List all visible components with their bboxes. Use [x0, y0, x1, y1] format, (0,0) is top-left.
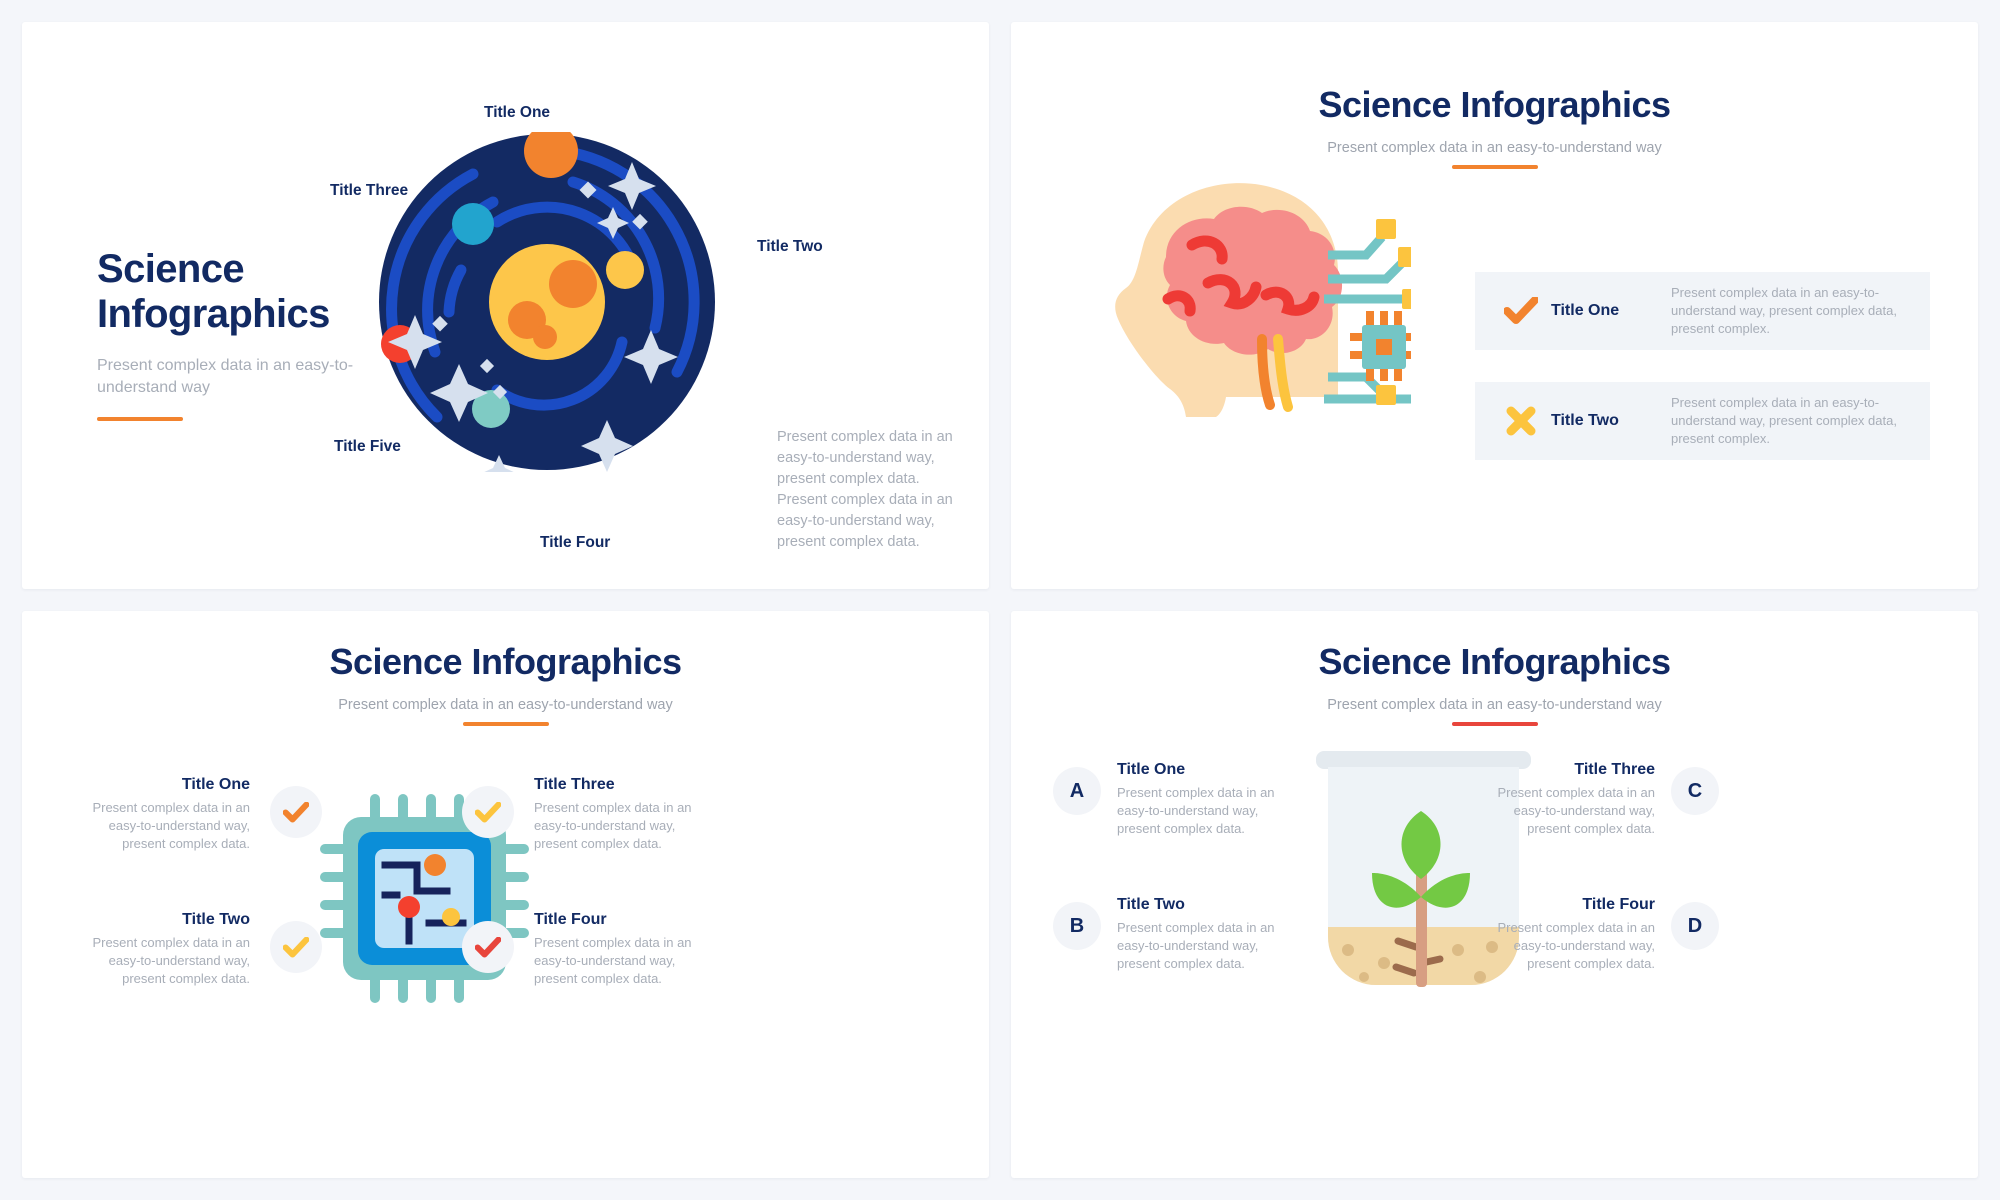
slide3-item-one[interactable]: Title One Present complex data in an eas… [62, 776, 322, 853]
slide-brain-circuit[interactable]: Science Infographics Present complex dat… [1011, 22, 1978, 589]
check-icon [270, 786, 322, 838]
slide2-row-two[interactable]: Title Two Present complex data in an eas… [1475, 382, 1930, 460]
slide4-item-a-body: Present complex data in an easy-to-under… [1117, 784, 1303, 838]
slide1-paragraph: Present complex data in an easy-to-under… [777, 427, 962, 553]
slide4-item-a-text: Title One Present complex data in an eas… [1117, 761, 1303, 838]
slide3-item-four-text: Title Four Present complex data in an ea… [534, 911, 722, 988]
slide4-item-b[interactable]: B Title Two Present complex data in an e… [1053, 896, 1303, 973]
badge-letter: B [1053, 902, 1101, 950]
slide3-item-one-text: Title One Present complex data in an eas… [62, 776, 250, 853]
slide3-subtitle: Present complex data in an easy-to-under… [22, 697, 989, 713]
slide2-row-one-title: Title One [1551, 302, 1671, 320]
slide3-item-two[interactable]: Title Two Present complex data in an eas… [62, 911, 322, 988]
slide3-item-two-body: Present complex data in an easy-to-under… [62, 934, 250, 988]
slide2-row-two-body: Present complex data in an easy-to-under… [1671, 394, 1930, 448]
slide4-item-c-title: Title Three [1469, 761, 1655, 779]
slide3-header: Science Infographics Present complex dat… [22, 641, 989, 726]
slide4-item-d-body: Present complex data in an easy-to-under… [1469, 919, 1655, 973]
slide3-item-four[interactable]: Title Four Present complex data in an ea… [462, 911, 722, 988]
badge-letter: C [1671, 767, 1719, 815]
slide4-item-d-text: Title Four Present complex data in an ea… [1469, 896, 1655, 973]
slide1-title: Science Infographics [97, 247, 367, 337]
slide4-item-d[interactable]: Title Four Present complex data in an ea… [1469, 896, 1719, 973]
slide3-item-four-body: Present complex data in an easy-to-under… [534, 934, 722, 988]
slide1-label-one: Title One [484, 104, 550, 122]
check-icon [462, 786, 514, 838]
slide4-title: Science Infographics [1011, 641, 1978, 683]
slide-plant-beaker[interactable]: Science Infographics Present complex dat… [1011, 611, 1978, 1178]
slide4-item-b-text: Title Two Present complex data in an eas… [1117, 896, 1303, 973]
check-icon [462, 921, 514, 973]
slide1-heading-block: Science Infographics Present complex dat… [97, 247, 367, 421]
slide4-item-b-title: Title Two [1117, 896, 1303, 914]
slide1-title-line2: Infographics [97, 292, 330, 336]
slide2-header: Science Infographics Present complex dat… [1011, 84, 1978, 169]
slide3-item-four-title: Title Four [534, 911, 722, 929]
badge-letter: D [1671, 902, 1719, 950]
check-icon [1501, 297, 1541, 325]
slide3-item-one-body: Present complex data in an easy-to-under… [62, 799, 250, 853]
slide3-item-three[interactable]: Title Three Present complex data in an e… [462, 776, 722, 853]
slide4-item-c-body: Present complex data in an easy-to-under… [1469, 784, 1655, 838]
brain-circuit-icon [1066, 167, 1411, 432]
slide3-title: Science Infographics [22, 641, 989, 683]
slide2-accent-rule [1452, 165, 1538, 169]
badge-letter: A [1053, 767, 1101, 815]
slide1-label-two: Title Two [757, 238, 823, 256]
slide2-row-list: Title One Present complex data in an eas… [1475, 272, 1930, 460]
slide1-accent-rule [97, 417, 183, 421]
slide2-title: Science Infographics [1011, 84, 1978, 126]
slide1-title-line1: Science [97, 247, 244, 291]
slide4-item-c[interactable]: Title Three Present complex data in an e… [1469, 761, 1719, 838]
slide2-row-one-body: Present complex data in an easy-to-under… [1671, 284, 1930, 338]
slide4-subtitle: Present complex data in an easy-to-under… [1011, 697, 1978, 713]
slide2-row-two-title: Title Two [1551, 412, 1671, 430]
slide4-item-d-title: Title Four [1469, 896, 1655, 914]
check-icon [270, 921, 322, 973]
slide-grid: Science Infographics Present complex dat… [0, 0, 2000, 1200]
slide3-item-two-text: Title Two Present complex data in an eas… [62, 911, 250, 988]
slide4-header: Science Infographics Present complex dat… [1011, 641, 1978, 726]
slide4-item-b-body: Present complex data in an easy-to-under… [1117, 919, 1303, 973]
slide3-item-three-text: Title Three Present complex data in an e… [534, 776, 722, 853]
slide4-item-a[interactable]: A Title One Present complex data in an e… [1053, 761, 1303, 838]
slide1-subtitle: Present complex data in an easy-to-under… [97, 355, 367, 399]
slide-solar-system[interactable]: Science Infographics Present complex dat… [22, 22, 989, 589]
slide4-accent-rule [1452, 722, 1538, 726]
solar-system-icon [377, 132, 717, 472]
slide3-item-three-body: Present complex data in an easy-to-under… [534, 799, 722, 853]
slide3-item-two-title: Title Two [62, 911, 250, 929]
slide2-row-one[interactable]: Title One Present complex data in an eas… [1475, 272, 1930, 350]
slide1-label-three: Title Three [330, 182, 408, 200]
cross-icon [1501, 406, 1541, 436]
slide2-subtitle: Present complex data in an easy-to-under… [1011, 140, 1978, 156]
slide3-item-three-title: Title Three [534, 776, 722, 794]
slide4-item-c-text: Title Three Present complex data in an e… [1469, 761, 1655, 838]
slide1-label-five: Title Five [334, 438, 401, 456]
slide1-label-four: Title Four [540, 534, 610, 552]
slide3-accent-rule [463, 722, 549, 726]
slide-microchip[interactable]: Science Infographics Present complex dat… [22, 611, 989, 1178]
slide4-item-a-title: Title One [1117, 761, 1303, 779]
slide3-item-one-title: Title One [62, 776, 250, 794]
